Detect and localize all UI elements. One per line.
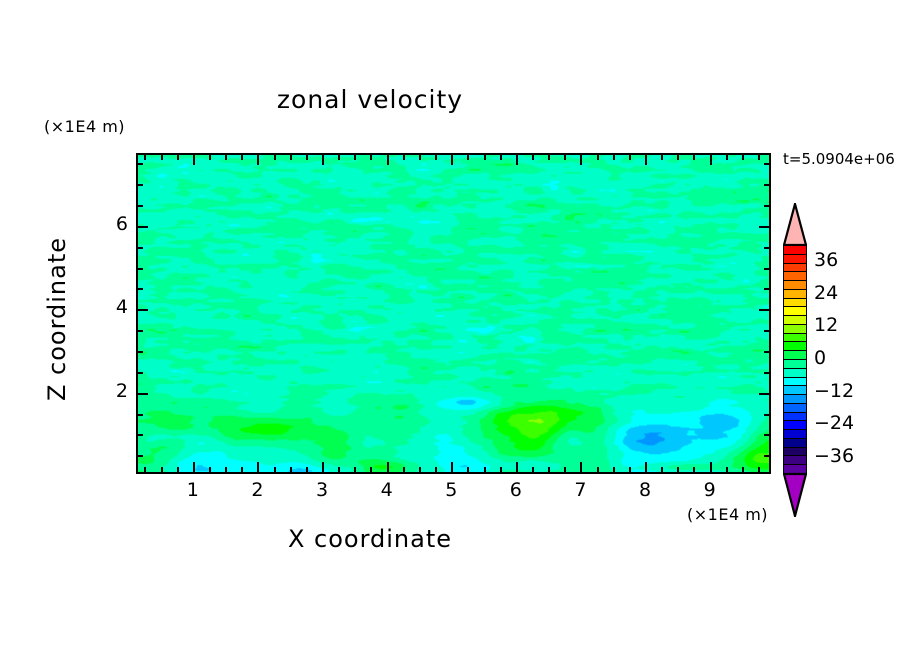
tick-mark xyxy=(306,154,308,160)
tick-mark xyxy=(370,467,372,473)
tick-mark xyxy=(516,462,518,473)
tick-mark xyxy=(764,414,770,416)
tick-mark xyxy=(209,154,211,160)
tick-mark xyxy=(161,467,163,473)
tick-mark xyxy=(764,434,770,436)
tick-mark xyxy=(225,467,227,473)
y-axis-title: Z coordinate xyxy=(43,219,71,419)
tick-mark xyxy=(532,467,534,473)
tick-mark xyxy=(435,154,437,160)
tick-mark xyxy=(241,154,243,160)
tick-mark xyxy=(758,467,760,473)
tick-mark xyxy=(257,154,259,165)
tick-mark xyxy=(193,462,195,473)
tick-mark xyxy=(338,467,340,473)
tick-mark xyxy=(677,467,679,473)
tick-mark xyxy=(274,154,276,160)
tick-mark xyxy=(137,414,143,416)
tick-mark xyxy=(580,462,582,473)
tick-mark xyxy=(580,154,582,165)
y-tick-label: 2 xyxy=(88,380,128,402)
tick-mark xyxy=(758,154,760,160)
colorbar-under-arrow xyxy=(783,472,807,517)
tick-mark xyxy=(726,154,728,160)
tick-mark xyxy=(710,462,712,473)
x-tick-label: 5 xyxy=(431,479,471,501)
tick-mark xyxy=(137,309,148,311)
tick-mark xyxy=(177,154,179,160)
x-tick-label: 7 xyxy=(560,479,600,501)
tick-mark xyxy=(322,154,324,165)
contour-plot-area xyxy=(136,153,771,474)
tick-mark xyxy=(759,226,770,228)
tick-mark xyxy=(759,393,770,395)
tick-mark xyxy=(161,154,163,160)
tick-mark xyxy=(137,226,148,228)
tick-mark xyxy=(137,372,143,374)
tick-mark xyxy=(661,154,663,160)
tick-mark xyxy=(548,467,550,473)
tick-mark xyxy=(484,467,486,473)
tick-mark xyxy=(764,330,770,332)
tick-mark xyxy=(290,154,292,160)
tick-mark xyxy=(629,154,631,160)
tick-mark xyxy=(137,184,143,186)
tick-mark xyxy=(548,154,550,160)
tick-mark xyxy=(137,268,143,270)
colorbar-tick-label: −36 xyxy=(814,445,854,467)
tick-mark xyxy=(370,154,372,160)
tick-mark xyxy=(290,467,292,473)
tick-mark xyxy=(677,154,679,160)
tick-mark xyxy=(451,462,453,473)
tick-mark xyxy=(306,467,308,473)
tick-mark xyxy=(435,467,437,473)
tick-mark xyxy=(137,393,148,395)
tick-mark xyxy=(137,288,143,290)
tick-mark xyxy=(137,330,143,332)
x-tick-label: 2 xyxy=(237,479,277,501)
tick-mark xyxy=(177,467,179,473)
tick-mark xyxy=(137,205,143,207)
tick-mark xyxy=(403,467,405,473)
colorbar-tick-label: 12 xyxy=(814,314,838,336)
tick-mark xyxy=(645,462,647,473)
tick-mark xyxy=(764,372,770,374)
tick-mark xyxy=(764,268,770,270)
tick-mark xyxy=(137,434,143,436)
colorbar-tick-label: 24 xyxy=(814,282,838,304)
timestamp-annotation: t=5.0904e+06 xyxy=(783,150,895,168)
tick-mark xyxy=(759,309,770,311)
tick-mark xyxy=(322,462,324,473)
tick-mark xyxy=(484,154,486,160)
tick-mark xyxy=(354,467,356,473)
tick-mark xyxy=(137,163,143,165)
tick-mark xyxy=(597,467,599,473)
tick-mark xyxy=(764,455,770,457)
tick-mark xyxy=(764,163,770,165)
colorbar xyxy=(783,245,807,473)
tick-mark xyxy=(419,154,421,160)
tick-mark xyxy=(354,154,356,160)
tick-mark xyxy=(500,154,502,160)
tick-mark xyxy=(193,154,195,165)
x-tick-label: 8 xyxy=(625,479,665,501)
x-tick-label: 3 xyxy=(302,479,342,501)
x-axis-title: X coordinate xyxy=(0,525,740,553)
tick-mark xyxy=(403,154,405,160)
tick-mark xyxy=(564,467,566,473)
tick-mark xyxy=(764,351,770,353)
page-title: zonal velocity xyxy=(0,85,740,114)
tick-mark xyxy=(500,467,502,473)
colorbar-tick-label: −24 xyxy=(814,412,854,434)
tick-mark xyxy=(387,462,389,473)
tick-mark xyxy=(597,154,599,160)
tick-mark xyxy=(532,154,534,160)
tick-mark xyxy=(742,467,744,473)
tick-mark xyxy=(564,154,566,160)
tick-mark xyxy=(144,154,146,160)
tick-mark xyxy=(257,462,259,473)
colorbar-tick-label: −12 xyxy=(814,380,854,402)
tick-mark xyxy=(451,154,453,165)
tick-mark xyxy=(338,154,340,160)
y-tick-label: 6 xyxy=(88,213,128,235)
tick-mark xyxy=(613,467,615,473)
figure-canvas: zonal velocity (×1E4 m) (×1E4 m) Z coord… xyxy=(0,0,904,654)
tick-mark xyxy=(137,247,143,249)
tick-mark xyxy=(629,467,631,473)
tick-mark xyxy=(467,154,469,160)
y-axis-units-label: (×1E4 m) xyxy=(44,117,125,136)
tick-mark xyxy=(764,205,770,207)
tick-mark xyxy=(764,247,770,249)
x-tick-label: 6 xyxy=(496,479,536,501)
tick-mark xyxy=(274,467,276,473)
x-tick-label: 1 xyxy=(173,479,213,501)
tick-mark xyxy=(387,154,389,165)
tick-mark xyxy=(693,154,695,160)
tick-mark xyxy=(516,154,518,165)
x-tick-label: 9 xyxy=(690,479,730,501)
tick-mark xyxy=(209,467,211,473)
tick-mark xyxy=(613,154,615,160)
colorbar-tick-label: 0 xyxy=(814,347,826,369)
tick-mark xyxy=(137,351,143,353)
tick-mark xyxy=(225,154,227,160)
tick-mark xyxy=(693,467,695,473)
tick-mark xyxy=(710,154,712,165)
y-tick-label: 4 xyxy=(88,296,128,318)
x-axis-units-label: (×1E4 m) xyxy=(687,505,768,524)
colorbar-tick-label: 36 xyxy=(814,249,838,271)
tick-mark xyxy=(137,455,143,457)
tick-mark xyxy=(661,467,663,473)
x-tick-label: 4 xyxy=(367,479,407,501)
tick-mark xyxy=(645,154,647,165)
tick-mark xyxy=(726,467,728,473)
tick-mark xyxy=(419,467,421,473)
tick-mark xyxy=(764,184,770,186)
tick-mark xyxy=(241,467,243,473)
contour-field xyxy=(138,155,769,472)
colorbar-over-arrow xyxy=(783,203,807,246)
tick-mark xyxy=(467,467,469,473)
tick-mark xyxy=(144,467,146,473)
tick-mark xyxy=(742,154,744,160)
tick-mark xyxy=(764,288,770,290)
